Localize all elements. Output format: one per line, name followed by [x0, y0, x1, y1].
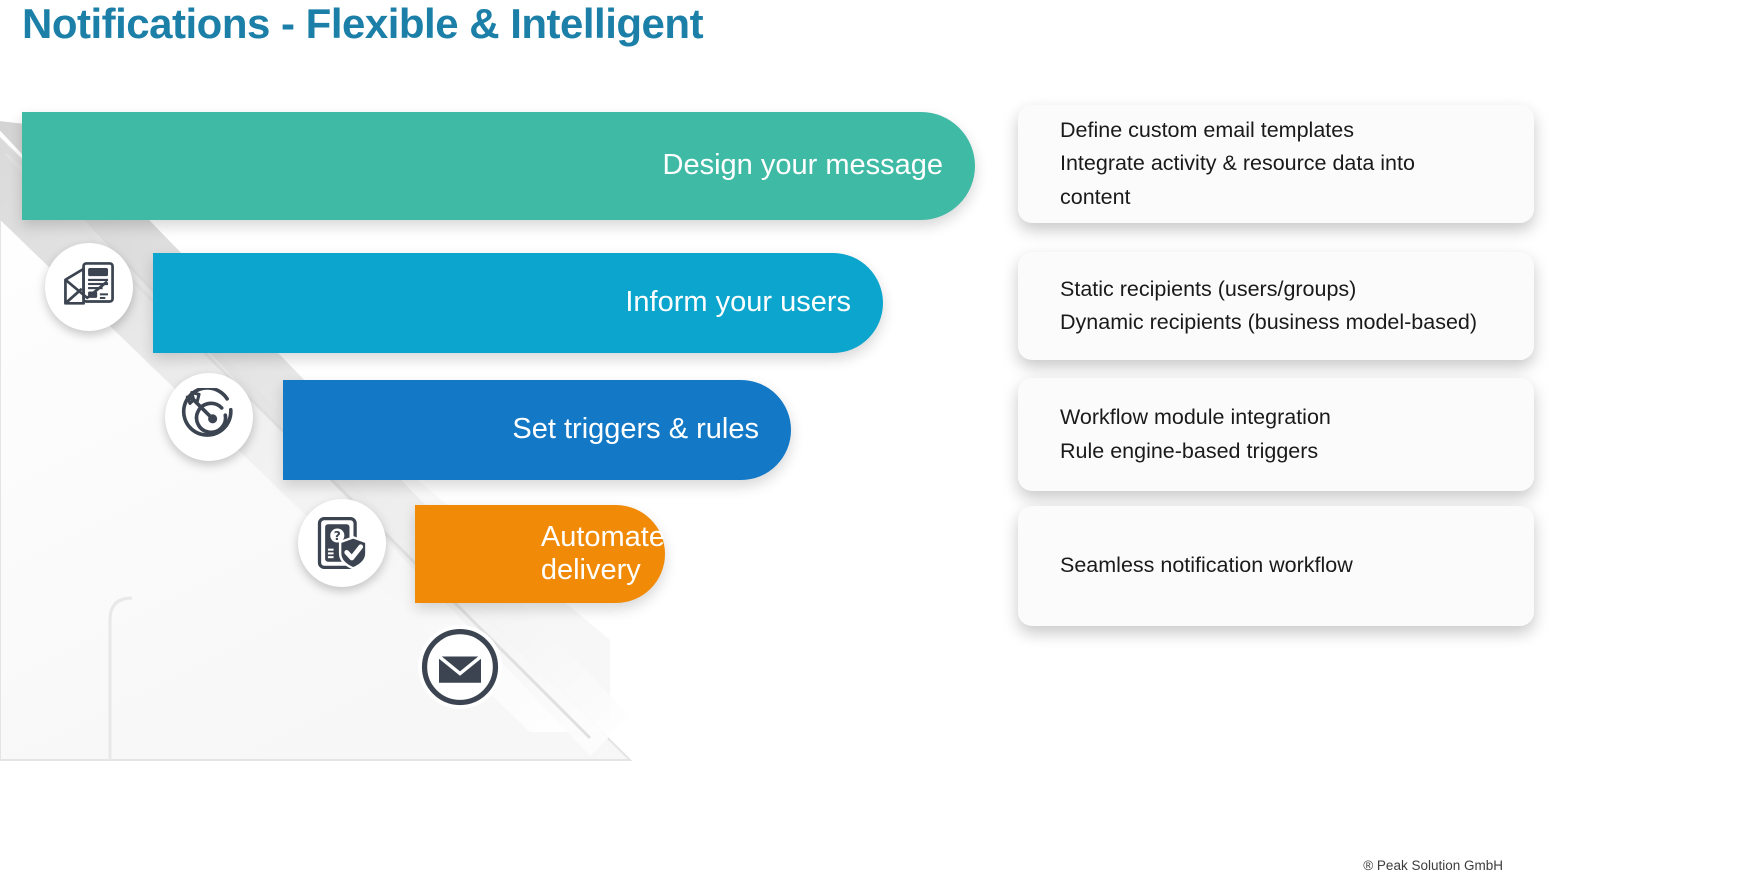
card-line: content: [1060, 181, 1500, 214]
target-arrow-icon: [180, 388, 238, 446]
detail-card-automate-delivery[interactable]: Seamless notification workflow: [1018, 506, 1534, 626]
page-title: Notifications - Flexible & Intelligent: [22, 0, 703, 48]
card-line: Dynamic recipients (business model-based…: [1060, 306, 1500, 339]
funnel-diagram: Design your message Inform your users Se…: [0, 105, 1000, 625]
funnel-step-label: Automate delivery: [463, 521, 665, 588]
email-template-icon: [60, 258, 118, 316]
card-line: Static recipients (users/groups): [1060, 273, 1500, 306]
funnel-step-label: Set triggers & rules: [512, 413, 791, 446]
detail-card-design-your-message[interactable]: Define custom email templates Integrate …: [1018, 105, 1534, 223]
card-line: Workflow module integration: [1060, 401, 1500, 434]
detail-card-inform-your-users[interactable]: Static recipients (users/groups) Dynamic…: [1018, 252, 1534, 360]
detail-card-set-triggers-and-rules[interactable]: Workflow module integration Rule engine-…: [1018, 378, 1534, 491]
document-shield-check-icon-badge: ?: [298, 499, 386, 587]
footer-copyright: ® Peak Solution GmbH: [1363, 858, 1503, 873]
target-arrow-icon-badge: [165, 373, 253, 461]
envelope-circle-icon-badge: [418, 625, 502, 709]
card-line: Define custom email templates: [1060, 114, 1500, 147]
funnel-step-inform-your-users[interactable]: Inform your users: [153, 253, 883, 353]
funnel-step-set-triggers-and-rules[interactable]: Set triggers & rules: [283, 380, 791, 480]
email-template-icon-badge: [45, 243, 133, 331]
card-line: Rule engine-based triggers: [1060, 435, 1500, 468]
card-line: Integrate activity & resource data into: [1060, 147, 1500, 180]
funnel-step-label: Design your message: [663, 149, 975, 182]
envelope-circle-icon: [418, 625, 502, 709]
funnel-step-label: Inform your users: [625, 286, 883, 319]
funnel-step-design-your-message[interactable]: Design your message: [22, 112, 975, 220]
card-line: Seamless notification workflow: [1060, 549, 1500, 582]
funnel-step-automate-delivery[interactable]: Automate delivery: [415, 505, 665, 603]
document-shield-check-icon: ?: [312, 513, 372, 573]
